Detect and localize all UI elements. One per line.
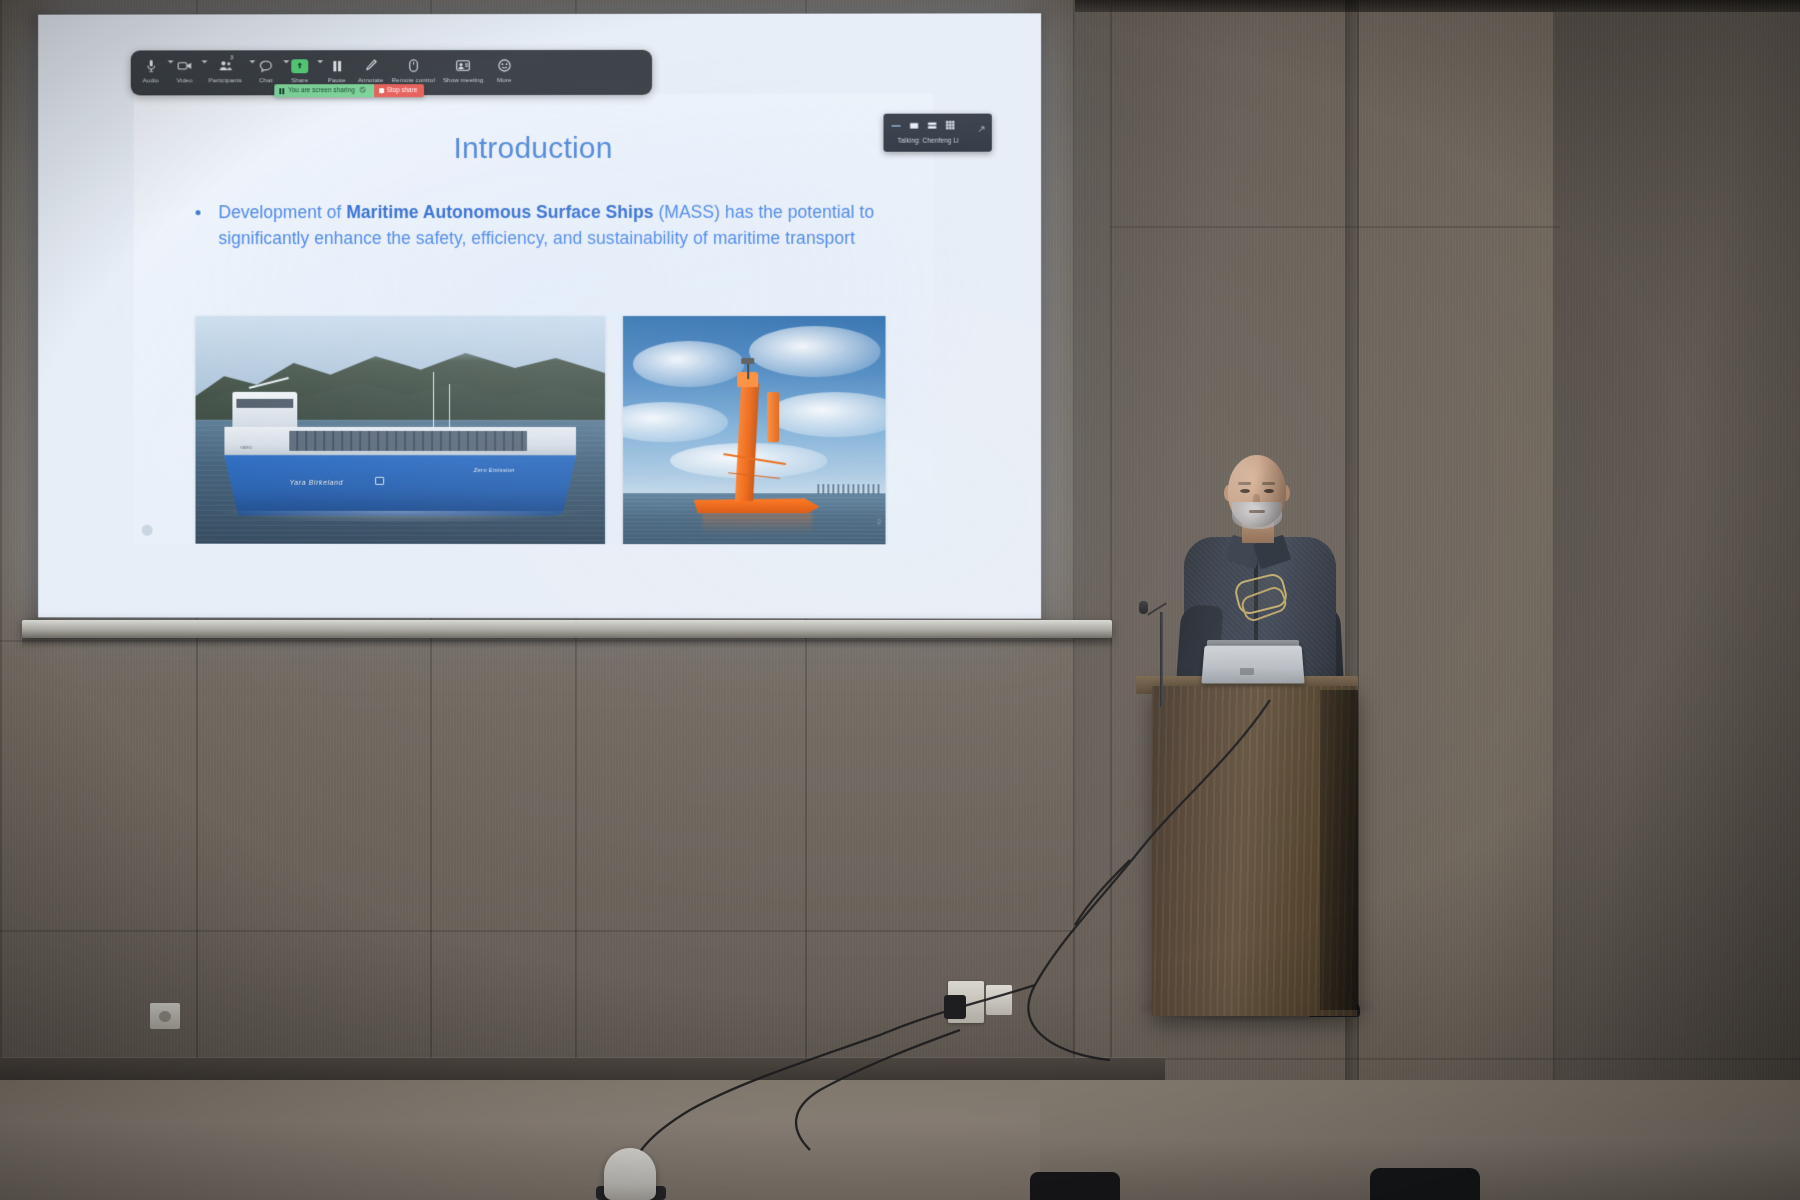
microphone-head-icon: [1139, 601, 1148, 614]
saildrone-autonomous-surface-vehicle-photo: [623, 316, 885, 544]
wall-seam: [1110, 0, 1112, 1200]
bullet-dot-icon: [196, 210, 201, 215]
floor-uplight-fixture: [604, 1148, 656, 1200]
ship-bridge-windows: [236, 399, 293, 408]
stop-share-button[interactable]: Stop share: [374, 84, 424, 97]
microphone-icon: [146, 57, 155, 74]
photo-cloud: [634, 341, 744, 387]
toolbar-button-participants[interactable]: 3 Participants: [205, 54, 252, 84]
toolbar-button-pause[interactable]: Pause: [320, 54, 354, 84]
stop-share-label: Stop share: [387, 87, 417, 94]
ship-name-text: Yara Birkeland: [290, 480, 344, 487]
toolbar-button-show-meeting[interactable]: Show meeting: [439, 54, 487, 84]
chat-icon: [259, 57, 272, 74]
photo-cloud: [749, 326, 880, 377]
toolbar-label-video: Video: [176, 77, 192, 84]
slide-title: Introduction: [134, 132, 934, 167]
distant-city-skyline: [817, 484, 880, 494]
saildrone-reflection: [702, 513, 812, 533]
slide-bullet-text: Development of Maritime Autonomous Surfa…: [218, 200, 885, 252]
toolbar-button-remote-control[interactable]: Remote control: [388, 54, 439, 84]
wall-seam: [1110, 226, 1560, 228]
toolbar-label-remote-control: Remote control: [392, 77, 435, 84]
ship-builder-mark: VARD: [240, 445, 252, 450]
microphone-stand: [1160, 612, 1163, 707]
ship-mast-aft: [449, 384, 450, 430]
laptop-logo: [1240, 668, 1254, 675]
slide-image-row: VARD Yara Birkeland Zero Emission: [196, 316, 886, 544]
sharing-status-icon: [279, 88, 284, 94]
toolbar-button-audio[interactable]: Audio: [137, 54, 171, 84]
gallery-view-icon[interactable]: [946, 121, 955, 130]
minimize-icon[interactable]: [892, 123, 901, 127]
camera-icon: [177, 57, 192, 74]
ship-bridge: [232, 392, 297, 432]
talking-indicator-label: Talking: Chenfeng Li: [898, 138, 959, 145]
wall-seam: [1073, 0, 1075, 1200]
toolbar-label-chat: Chat: [259, 77, 272, 84]
yara-birkeland-container-ship-photo: VARD Yara Birkeland Zero Emission: [196, 316, 605, 544]
projection-screen: Introduction Development of Maritime Aut…: [38, 13, 1041, 618]
screen-bar-shadow: [22, 638, 1112, 648]
screen-sharing-status-bar: You are screen sharing Stop share: [274, 84, 424, 97]
toolbar-label-more: More: [497, 77, 511, 84]
power-plug: [944, 995, 966, 1019]
wall-outlet-plate-secondary: [986, 985, 1012, 1015]
toolbar-label-pause: Pause: [328, 77, 346, 84]
slide-bullet-item: Development of Maritime Autonomous Surfa…: [196, 200, 886, 252]
pencil-icon: [365, 57, 377, 74]
toolbar-button-chat[interactable]: Chat: [252, 54, 286, 84]
wall-seam: [0, 930, 1075, 932]
maximize-icon[interactable]: [910, 121, 919, 129]
ceiling-band: [1075, 0, 1800, 12]
bullet-segment-bold: Maritime Autonomous Surface Ships: [346, 202, 653, 222]
toolbar-label-audio: Audio: [143, 77, 159, 84]
far-right-wall: [1555, 0, 1800, 1200]
wall-seam: [1553, 0, 1555, 1200]
sharing-indicator: You are screen sharing: [274, 84, 374, 97]
slide-page-number: 2: [877, 517, 881, 526]
laptop-on-podium: [1201, 646, 1304, 684]
foreground-chair-right: [1370, 1168, 1480, 1200]
ship-hull: [224, 455, 576, 516]
wall-outlet-left: [150, 1003, 180, 1029]
screenshot-root: Introduction Development of Maritime Aut…: [0, 0, 1800, 1200]
toolbar-label-participants: Participants: [208, 77, 241, 84]
stop-icon: [379, 88, 384, 93]
more-smiley-icon: [498, 57, 511, 74]
toolbar-button-share[interactable]: Share: [286, 54, 320, 84]
saildrone-sensor-pod: [741, 358, 754, 364]
sharing-check-icon: [359, 86, 366, 95]
mouse-icon: [409, 57, 418, 74]
saildrone-hull: [694, 498, 820, 513]
powerpoint-corner-icon[interactable]: [142, 525, 153, 536]
ship-zero-emission-text: Zero Emission: [474, 468, 515, 474]
wall-seam: [0, 0, 2, 1200]
projection-screen-bottom-bar: [22, 620, 1112, 638]
toolbar-label-annotate: Annotate: [358, 77, 384, 84]
ship-logo-badge: [376, 477, 385, 485]
participants-icon: 3: [218, 57, 232, 74]
foreground-chair-left: [1030, 1172, 1120, 1200]
bullet-segment-plain-1: Development of: [218, 202, 346, 222]
toolbar-label-share: Share: [291, 77, 308, 84]
baseboard: [0, 1058, 1165, 1080]
saildrone-tail-fin: [767, 392, 779, 443]
presentation-slide: Introduction Development of Maritime Aut…: [134, 94, 934, 545]
toolbar-button-annotate[interactable]: Annotate: [354, 54, 388, 84]
saildrone-antenna: [748, 362, 749, 380]
presenter-head-shading: [1228, 455, 1286, 527]
ship-cargo-containers: [290, 431, 528, 451]
ship-wake: [212, 511, 589, 524]
video-panel-controls[interactable]: [892, 121, 955, 130]
toolbar-button-video[interactable]: Video: [171, 54, 205, 84]
ship-mast: [433, 372, 434, 430]
toolbar-label-show-meeting: Show meeting: [443, 77, 483, 84]
wall-seam: [1110, 1058, 1800, 1060]
sharing-status-text: You are screen sharing: [288, 87, 355, 94]
meeting-window-icon: [456, 57, 470, 74]
pause-icon: [332, 57, 342, 74]
podium-side-shadow: [1320, 690, 1358, 1010]
participants-count-badge: 3: [230, 55, 233, 61]
speaker-view-icon[interactable]: [928, 121, 937, 129]
share-screen-icon: [291, 57, 308, 74]
toolbar-button-more[interactable]: More: [487, 54, 521, 84]
expand-icon[interactable]: [976, 120, 985, 138]
zoom-floating-video-panel[interactable]: Talking: Chenfeng Li: [883, 114, 991, 152]
